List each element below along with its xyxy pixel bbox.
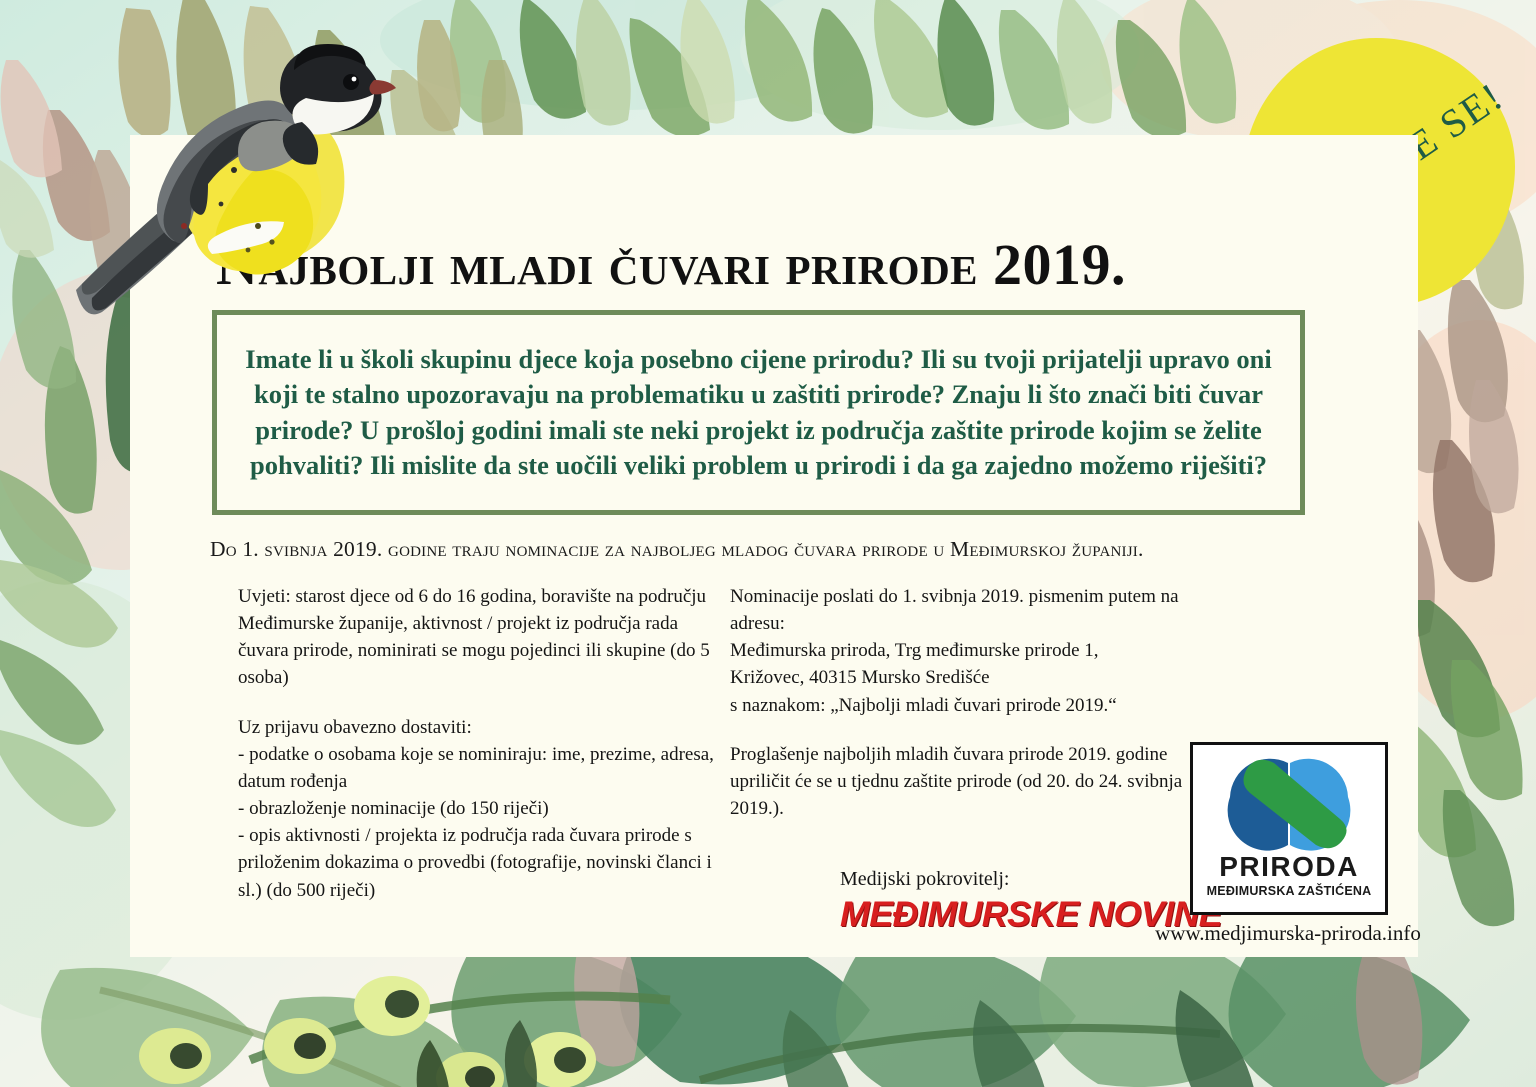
highlight-question-box: Imate li u školi skupinu djece koja pose… [212,310,1305,515]
deadline-subtitle: Do 1. svibnja 2019. godine traju nominac… [210,537,1330,562]
infinity-leaf-icon [1214,749,1364,853]
right-column: Nominacije poslati do 1. svibnja 2019. p… [730,583,1210,844]
conditions-paragraph: Uvjeti: starost djece od 6 do 16 godina,… [238,583,716,692]
poster-canvas: PRIJAVITE SE! Najbolji mladi čuvari prir… [0,0,1536,1087]
announcement-paragraph: Proglašenje najboljih mladih čuvara prir… [730,741,1210,822]
priroda-logo-mark [1193,745,1385,853]
great-tit-bird-illustration [58,18,398,318]
media-sponsor: Medijski pokrovitelj: MEĐIMURSKE NOVINE [840,868,1140,935]
attention-line: s naznakom: „Najbolji mladi čuvari priro… [730,692,1210,719]
sponsor-label: Medijski pokrovitelj: [840,868,1140,891]
priroda-logo-box: PRIRODA MEĐIMURSKA ZAŠTIĆENA [1190,742,1388,915]
submission-intro: Nominacije poslati do 1. svibnja 2019. p… [730,583,1210,637]
requirements-paragraph: Uz prijavu obavezno dostaviti: - podatke… [238,714,716,904]
medjimurske-novine-logo: MEĐIMURSKE NOVINE [840,895,1146,935]
highlight-box-text: Imate li u školi skupinu djece koja pose… [224,342,1293,483]
priroda-wordmark: PRIRODA [1193,853,1385,881]
highlight-box-inner: Imate li u školi skupinu djece koja pose… [222,320,1295,505]
address-line-2: Križovec, 40315 Mursko Središće [730,664,1210,691]
left-column: Uvjeti: starost djece od 6 do 16 godina,… [238,583,716,904]
website-url: www.medjimurska-priroda.info [1138,921,1438,946]
priroda-tagline: MEĐIMURSKA ZAŠTIĆENA [1193,884,1385,898]
address-line-1: Međimurska priroda, Trg međimurske priro… [730,637,1210,664]
